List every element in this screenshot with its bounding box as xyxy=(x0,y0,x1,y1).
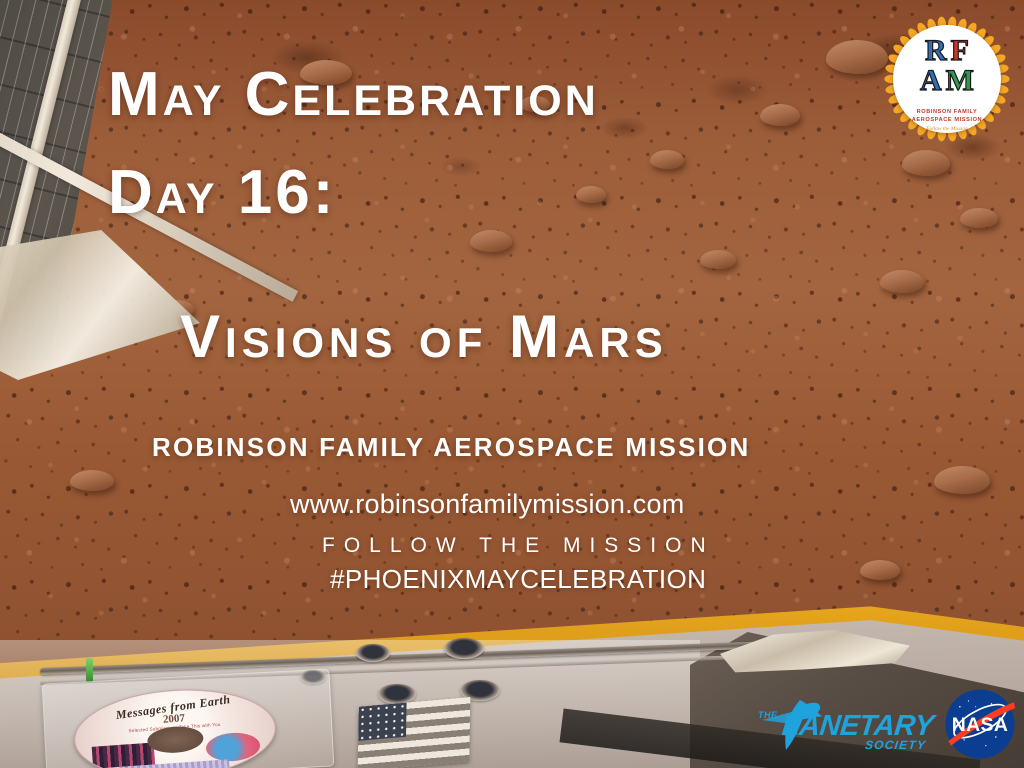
terrain-rock xyxy=(470,230,512,252)
logo-letter-a: A xyxy=(920,66,942,96)
us-flag-decal xyxy=(358,697,471,768)
logo-org-text: ROBINSON FAMILY AEROSPACE MISSION xyxy=(884,108,1010,125)
deck-green-wire xyxy=(86,658,93,682)
logo-tagline: Follow the Mission xyxy=(884,126,1010,132)
title-line-1: May Celebration xyxy=(108,62,599,128)
poster: Messages from Earth 2007 Selected Submis… xyxy=(0,0,1024,768)
terrain-rock xyxy=(576,186,606,203)
flag-canton xyxy=(358,703,406,741)
terrain-rock xyxy=(70,470,114,491)
title-line-3: Visions of Mars xyxy=(180,305,668,369)
planetary-society-the: THE xyxy=(758,710,778,720)
planetary-society-society: SOCIETY xyxy=(864,738,927,752)
terrain-rock xyxy=(760,104,800,126)
website-url[interactable]: www.robinsonfamilymission.com xyxy=(290,489,684,520)
svg-text:NASA: NASA xyxy=(952,714,1009,736)
terrain-rock xyxy=(934,466,990,494)
hashtag: #PHOENIXMAYCELEBRATION xyxy=(330,564,706,595)
logo-letter-r: R xyxy=(925,36,947,66)
deck-bolt xyxy=(444,638,484,659)
terrain-rock xyxy=(860,560,900,580)
terrain-rock xyxy=(826,40,888,74)
logo-letters: RF AM xyxy=(884,36,1010,96)
terrain-rock xyxy=(960,208,998,228)
deck-bolt xyxy=(356,644,390,662)
organization-name: ROBINSON FAMILY AEROSPACE MISSION xyxy=(152,432,750,463)
rfam-logo[interactable]: RF AM ROBINSON FAMILY AEROSPACE MISSION … xyxy=(884,16,1010,142)
terrain-rock xyxy=(650,150,684,169)
deck-bolt xyxy=(378,684,416,704)
nasa-logo[interactable]: NASA xyxy=(944,688,1016,760)
nasa-meatball-icon: NASA xyxy=(944,688,1016,760)
solar-panel-foil xyxy=(0,230,200,380)
logo-letter-m: M xyxy=(946,66,974,96)
terrain-rock xyxy=(700,250,736,269)
title-line-2: Day 16: xyxy=(108,160,336,226)
planetary-society-logo[interactable]: THE LANETARY SOCIETY xyxy=(756,694,932,756)
logo-org-line2: AEROSPACE MISSION xyxy=(912,117,982,123)
terrain-rock xyxy=(902,150,950,176)
follow-the-mission-label: FOLLOW THE MISSION xyxy=(322,534,715,558)
terrain-rock xyxy=(880,270,924,293)
logo-org-line1: ROBINSON FAMILY xyxy=(917,109,978,115)
logo-letter-f: F xyxy=(951,36,969,66)
